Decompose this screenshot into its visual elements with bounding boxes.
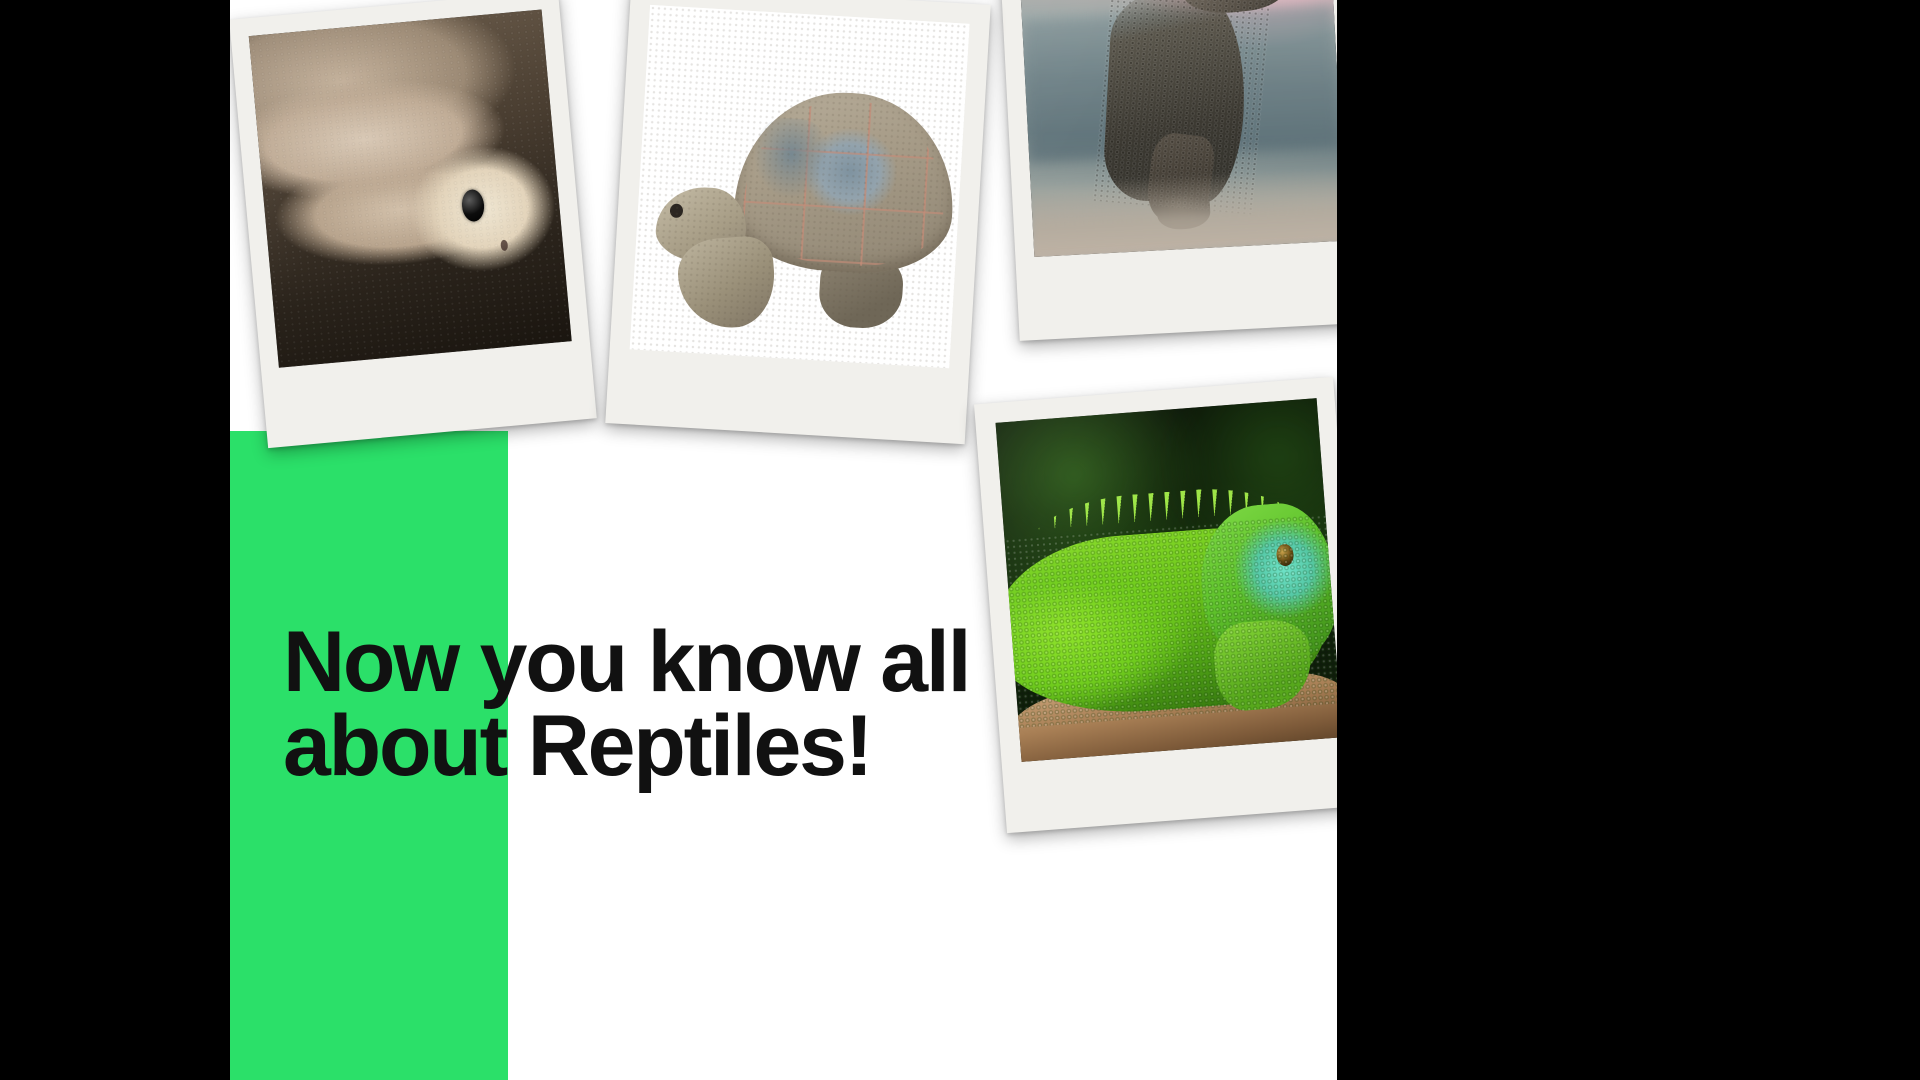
- headline-line-1: Now you know all: [283, 620, 1073, 704]
- photo-card-lizard[interactable]: [997, 0, 1337, 341]
- snake-scale-texture: [249, 9, 572, 367]
- headline-line-2: about Reptiles!: [283, 704, 1073, 788]
- slide-stage: Now you know all about Reptiles!: [0, 0, 1920, 1080]
- letterbox-bar-right: [1337, 0, 1920, 1080]
- lizard-foreground-blur: [1030, 166, 1337, 257]
- tortoise-image: [630, 5, 970, 368]
- photo-frame-lizard: [1017, 0, 1337, 257]
- tortoise-texture: [630, 5, 970, 368]
- photo-card-snake[interactable]: [230, 0, 597, 448]
- photo-frame-tortoise: [630, 5, 970, 368]
- letterbox-bar-left: [0, 0, 230, 1080]
- slide-headline: Now you know all about Reptiles!: [283, 620, 1073, 789]
- photo-card-tortoise[interactable]: [605, 0, 990, 444]
- lizard-image: [1017, 0, 1337, 257]
- snake-image: [249, 9, 572, 367]
- photo-frame-snake: [249, 9, 572, 367]
- slide-canvas: Now you know all about Reptiles!: [230, 0, 1337, 1080]
